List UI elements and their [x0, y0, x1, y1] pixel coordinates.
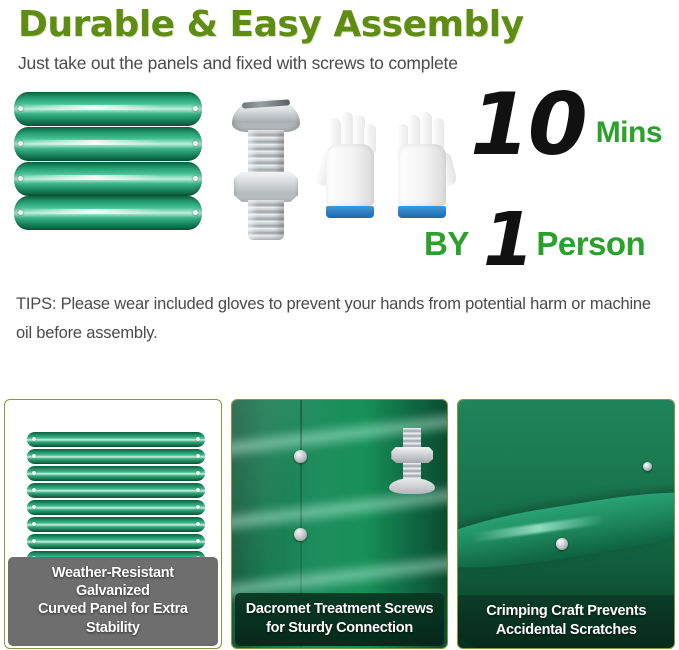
- person-noun-label: Person: [536, 225, 645, 271]
- bolt-head: [389, 478, 435, 494]
- panel-body: [14, 92, 202, 230]
- bolt-nut: [391, 447, 433, 463]
- tips-text: TIPS: Please wear included gloves to pre…: [16, 290, 665, 348]
- bolt-shaft-upper: [248, 130, 284, 176]
- bolt-and-nut-icon: [228, 92, 304, 240]
- feature-card-crimping-craft[interactable]: Crimping Craft Prevents Accidental Scrat…: [457, 399, 675, 649]
- sheet-screw-hole: [32, 488, 36, 492]
- bolt-shaft-lower: [248, 200, 284, 240]
- panel-screw-hole: [18, 176, 23, 181]
- feature-card-dacromet-screws[interactable]: Dacromet Treatment Screws for Sturdy Con…: [231, 399, 449, 649]
- bolt-shaft-upper: [403, 428, 421, 448]
- card-caption-line-1: Dacromet Treatment Screws: [241, 600, 439, 618]
- panel-rib: [14, 196, 202, 230]
- assembly-time-value: 10: [470, 90, 586, 161]
- sheet-screw-hole: [32, 454, 36, 458]
- sheet-screw-hole: [32, 505, 36, 509]
- panel-screw-hole: [18, 210, 23, 215]
- sheet-rib: [27, 432, 205, 447]
- panel-rib: [14, 127, 202, 161]
- card-caption-line-1: Crimping Craft Prevents: [464, 602, 668, 620]
- sheet-screw-hole: [32, 522, 36, 526]
- sheet-screw-hole: [196, 454, 200, 458]
- assembly-time-unit: Mins: [596, 116, 662, 160]
- sheet-screw-hole: [32, 471, 36, 475]
- panel-screw-hole: [18, 106, 23, 111]
- panel-screw-hole: [193, 210, 198, 215]
- dacromet-bolt-icon: [389, 428, 435, 494]
- glove-right: [390, 110, 454, 218]
- card-caption-line-2: for Sturdy Connection: [241, 619, 439, 637]
- sheet-screw-hole: [32, 539, 36, 543]
- assembly-time: 10 Mins: [470, 90, 662, 161]
- glove-palm: [398, 144, 446, 206]
- sheet-screw-hole: [32, 437, 36, 441]
- panel-screw-hole: [193, 106, 198, 111]
- card-caption: Dacromet Treatment Screws for Sturdy Con…: [235, 593, 445, 646]
- hero-section: 10 Mins BY 1 Person: [0, 82, 679, 282]
- feature-cards: Weather-Resistant Galvanized Curved Pane…: [4, 399, 675, 649]
- sheet-screw-hole: [196, 471, 200, 475]
- corrugated-sheet-illustration: [27, 432, 205, 566]
- person-prefix-label: BY: [424, 225, 469, 271]
- card-caption-line-1: Weather-Resistant Galvanized: [14, 564, 212, 601]
- card-caption-line-2: Accidental Scratches: [464, 621, 668, 639]
- header: Durable & Easy Assembly Just take out th…: [0, 0, 679, 74]
- panel-screw-hole: [18, 141, 23, 146]
- card-caption: Crimping Craft Prevents Accidental Scrat…: [458, 595, 674, 648]
- panel-rib: [14, 92, 202, 126]
- feature-card-weather-resistant-panel[interactable]: Weather-Resistant Galvanized Curved Pane…: [4, 399, 222, 649]
- sheet-screw-hole: [196, 505, 200, 509]
- panel-screw: [294, 528, 307, 541]
- bolt-nut: [234, 172, 298, 202]
- panel-screw-hole: [193, 141, 198, 146]
- card-caption-line-2: Curved Panel for Extra Stability: [14, 600, 212, 637]
- glove-left: [318, 110, 382, 218]
- sheet-screw-hole: [196, 488, 200, 492]
- work-gloves-icon: [318, 110, 456, 220]
- glove-palm: [326, 144, 374, 206]
- sheet-rib: [27, 500, 205, 515]
- glove-cuff: [326, 206, 374, 218]
- sheet-rib: [27, 534, 205, 549]
- person-count-value: 1: [483, 210, 533, 271]
- card-caption: Weather-Resistant Galvanized Curved Pane…: [8, 557, 218, 646]
- sheet-rib: [27, 483, 205, 498]
- sheet-screw-hole: [196, 539, 200, 543]
- corrugated-panel-icon: [14, 92, 202, 230]
- page-subtitle: Just take out the panels and fixed with …: [18, 53, 679, 74]
- sheet-rib: [27, 517, 205, 532]
- panel-rib: [14, 162, 202, 196]
- rim-screw: [643, 462, 652, 471]
- sheet-rib: [27, 449, 205, 464]
- panel-screw: [294, 450, 307, 463]
- panel-screw-hole: [193, 176, 198, 181]
- page-title: Durable & Easy Assembly: [18, 6, 679, 45]
- sheet-screw-hole: [196, 522, 200, 526]
- assembly-person-count: BY 1 Person: [424, 210, 645, 271]
- sheet-rib: [27, 466, 205, 481]
- sheet-screw-hole: [196, 437, 200, 441]
